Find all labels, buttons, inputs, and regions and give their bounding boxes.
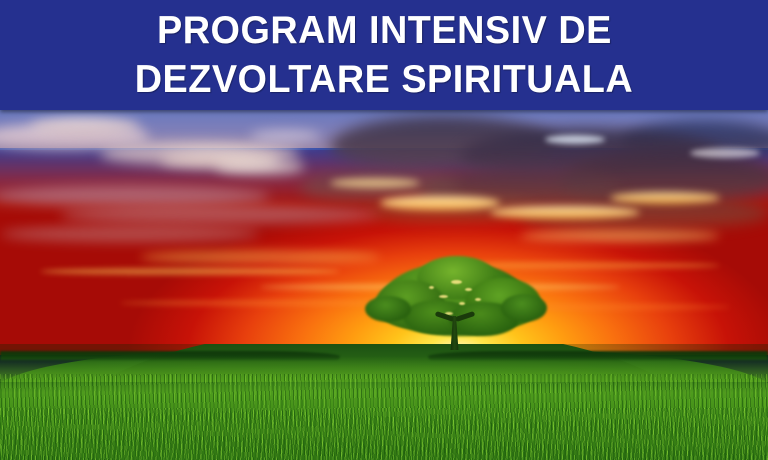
leaf-sunlight-sparkle [475, 298, 481, 301]
leaf-sunlight-sparkle [459, 302, 465, 305]
tree-canopy-lobe [501, 294, 547, 322]
leaf-sunlight-sparkle [439, 295, 448, 298]
leaf-sunlight-sparkle [429, 286, 434, 289]
leaf-sunlight-sparkle [451, 280, 462, 284]
title-line-1: PROGRAM INTENSIV DE [157, 6, 612, 55]
leaf-sunlight-sparkle [465, 288, 472, 291]
title-banner: PROGRAM INTENSIV DE DEZVOLTARE SPIRITUAL… [0, 0, 768, 110]
sky-blend-band [0, 148, 768, 218]
silhouette-tree [365, 258, 545, 350]
poster-image: PROGRAM INTENSIV DE DEZVOLTARE SPIRITUAL… [0, 0, 768, 460]
tree-canopy-lobe [365, 296, 411, 322]
title-line-2: DEZVOLTARE SPIRITUALA [135, 55, 633, 104]
grass-blade-texture [0, 408, 768, 460]
ground-landscape [0, 344, 768, 460]
